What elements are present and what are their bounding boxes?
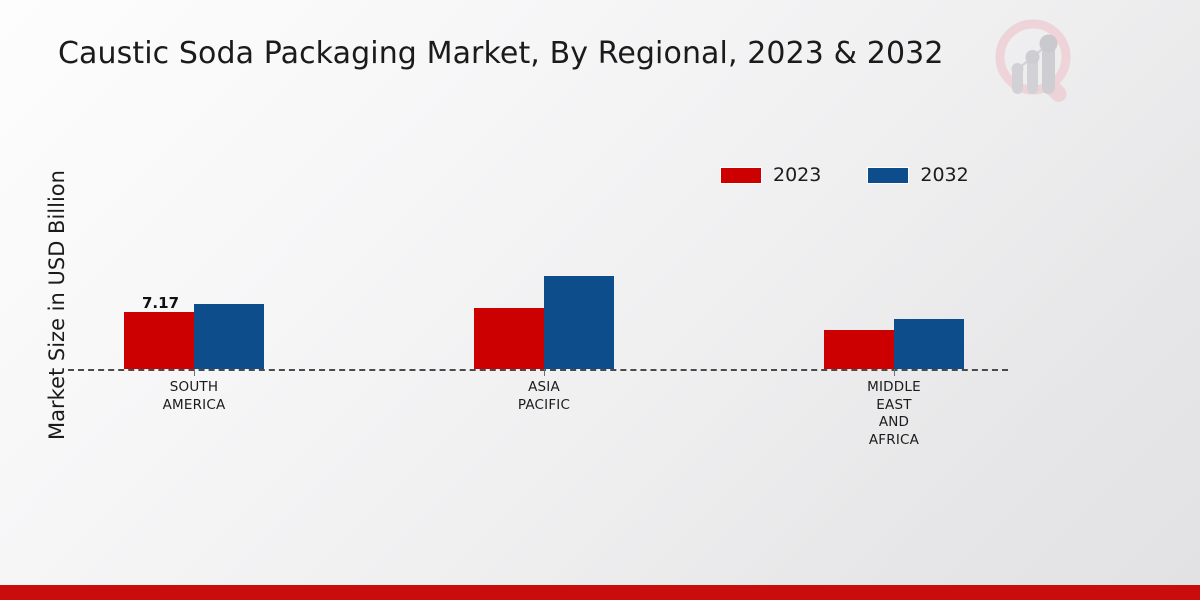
category-label-asia-pacific: ASIA PACIFIC <box>434 379 654 414</box>
tick-asia-pacific <box>544 369 545 376</box>
bar-group-south-america <box>124 304 264 369</box>
category-line: AFRICA <box>784 432 1004 450</box>
plot-area: SOUTH AMERICA 7.17 ASIA PACIFIC MIDDLE E… <box>0 0 1200 600</box>
category-label-south-america: SOUTH AMERICA <box>84 379 304 414</box>
bar-asia-pacific-2023[interactable] <box>474 308 544 369</box>
chart-canvas: Caustic Soda Packaging Market, By Region… <box>0 0 1200 600</box>
category-label-middle-east-and-africa: MIDDLE EAST AND AFRICA <box>784 379 1004 449</box>
bar-south-america-2032[interactable] <box>194 304 264 369</box>
category-line: PACIFIC <box>434 397 654 415</box>
axis-baseline <box>68 369 1008 371</box>
category-line: AND <box>784 414 1004 432</box>
category-line: AMERICA <box>84 397 304 415</box>
footer-bar <box>0 585 1200 600</box>
data-label-south-america-2023: 7.17 <box>142 294 179 312</box>
category-line: EAST <box>784 397 1004 415</box>
bar-group-asia-pacific <box>474 276 614 369</box>
bar-middle-east-and-africa-2032[interactable] <box>894 319 964 369</box>
tick-middle-east-and-africa <box>894 369 895 376</box>
category-line: SOUTH <box>84 379 304 397</box>
tick-south-america <box>194 369 195 376</box>
category-line: ASIA <box>434 379 654 397</box>
category-line: MIDDLE <box>784 379 1004 397</box>
bar-group-middle-east-and-africa <box>824 319 964 369</box>
bar-middle-east-and-africa-2023[interactable] <box>824 330 894 369</box>
bar-asia-pacific-2032[interactable] <box>544 276 614 369</box>
bar-south-america-2023[interactable] <box>124 312 194 369</box>
